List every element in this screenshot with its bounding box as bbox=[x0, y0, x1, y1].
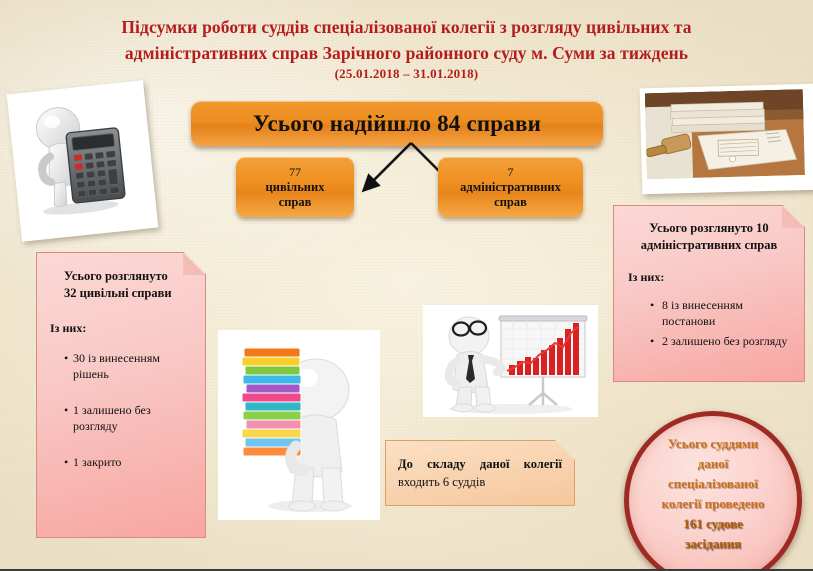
civil-cases-box: 77 цивільних справ bbox=[236, 157, 354, 217]
civil-cases-note: Усього розглянуто 32 цивільні справи Із … bbox=[36, 252, 206, 538]
hearings-line-6: засідання bbox=[685, 536, 741, 551]
civil-note-list: 30 із винесенням рішень 1 залишено без р… bbox=[50, 350, 192, 470]
infographic-canvas: Підсумки роботи суддів спеціалізованої к… bbox=[0, 0, 813, 571]
collegium-composition-text: До складу даної колегії входить 6 суддів bbox=[386, 441, 574, 491]
civil-cases-count: 77 bbox=[289, 165, 301, 180]
civil-note-heading-line-2: 32 цивільні справи bbox=[64, 286, 172, 300]
list-item: 1 залишено без розгляду bbox=[64, 402, 192, 434]
admin-cases-box: 7 адміністративних справ bbox=[438, 157, 583, 217]
admin-cases-count: 7 bbox=[508, 165, 514, 180]
hearings-line-4: колегії проведено bbox=[662, 496, 765, 511]
civil-note-heading: Усього розглянуто 32 цивільні справи bbox=[50, 268, 192, 302]
page-subtitle-date-range: (25.01.2018 – 31.01.2018) bbox=[40, 66, 773, 82]
hearings-line-2: даної bbox=[698, 456, 729, 471]
page-title: Підсумки роботи суддів спеціалізованої к… bbox=[40, 14, 773, 66]
collegium-composition-bold: До складу даної колегії bbox=[398, 457, 562, 471]
admin-note-heading-line-1: Усього розглянуто 10 bbox=[649, 221, 768, 235]
admin-note-heading: Усього розглянуто 10 адміністративних сп… bbox=[628, 220, 790, 254]
admin-cases-note-body: Усього розглянуто 10 адміністративних сп… bbox=[614, 206, 804, 349]
hearings-line-3: спеціалізованої bbox=[668, 476, 758, 491]
admin-cases-label-2: справ bbox=[494, 195, 527, 210]
civil-note-intro: Із них: bbox=[50, 321, 192, 336]
collegium-composition-rest: входить 6 суддів bbox=[398, 475, 485, 489]
calculator-photo bbox=[7, 80, 159, 242]
civil-note-heading-line-1: Усього розглянуто bbox=[64, 269, 168, 283]
presentation-photo bbox=[423, 305, 598, 417]
presentation-photo-inner bbox=[423, 305, 598, 417]
total-cases-banner-label: Усього надійшло 84 справи bbox=[253, 111, 541, 137]
hearings-line-5: 161 судове bbox=[683, 516, 743, 531]
civil-cases-label-2: справ bbox=[279, 195, 312, 210]
admin-cases-note: Усього розглянуто 10 адміністративних сп… bbox=[613, 205, 805, 382]
arrow-to-civil bbox=[369, 143, 411, 185]
total-hearings-circle: Усього суддями даної спеціалізованої кол… bbox=[624, 411, 802, 571]
admin-cases-label-1: адміністративних bbox=[460, 180, 561, 195]
presentation-figure-illustration bbox=[423, 305, 598, 417]
total-hearings-text: Усього суддями даної спеціалізованої кол… bbox=[633, 434, 793, 554]
books-photo bbox=[218, 330, 380, 520]
case-files-illustration bbox=[645, 89, 805, 179]
case-files-photo bbox=[640, 84, 813, 195]
page-title-line-1: Підсумки роботи суддів спеціалізованої к… bbox=[40, 14, 773, 40]
books-photo-inner bbox=[218, 330, 380, 520]
collegium-composition-note: До складу даної колегії входить 6 суддів bbox=[385, 440, 575, 506]
calculator-photo-inner bbox=[13, 87, 152, 235]
admin-note-list: 8 із винесенням постанови 2 залишено без… bbox=[628, 297, 790, 349]
list-item: 2 залишено без розгляду bbox=[650, 333, 790, 349]
admin-note-intro: Із них: bbox=[628, 270, 790, 285]
page-title-line-2: адміністративних справ Зарічного районно… bbox=[40, 40, 773, 66]
admin-note-heading-line-2: адміністративних справ bbox=[641, 238, 778, 252]
civil-cases-note-body: Усього розглянуто 32 цивільні справи Із … bbox=[37, 253, 205, 470]
civil-cases-label-1: цивільних bbox=[266, 180, 325, 195]
total-cases-banner: Усього надійшло 84 справи bbox=[191, 101, 603, 146]
list-item: 8 із винесенням постанови bbox=[650, 297, 790, 329]
hearings-line-1: Усього суддями bbox=[668, 436, 758, 451]
case-files-photo-inner bbox=[645, 89, 813, 189]
books-figure-illustration bbox=[218, 330, 380, 520]
list-item: 1 закрито bbox=[64, 454, 192, 470]
list-item: 30 із винесенням рішень bbox=[64, 350, 192, 382]
calculator-illustration bbox=[13, 88, 138, 223]
